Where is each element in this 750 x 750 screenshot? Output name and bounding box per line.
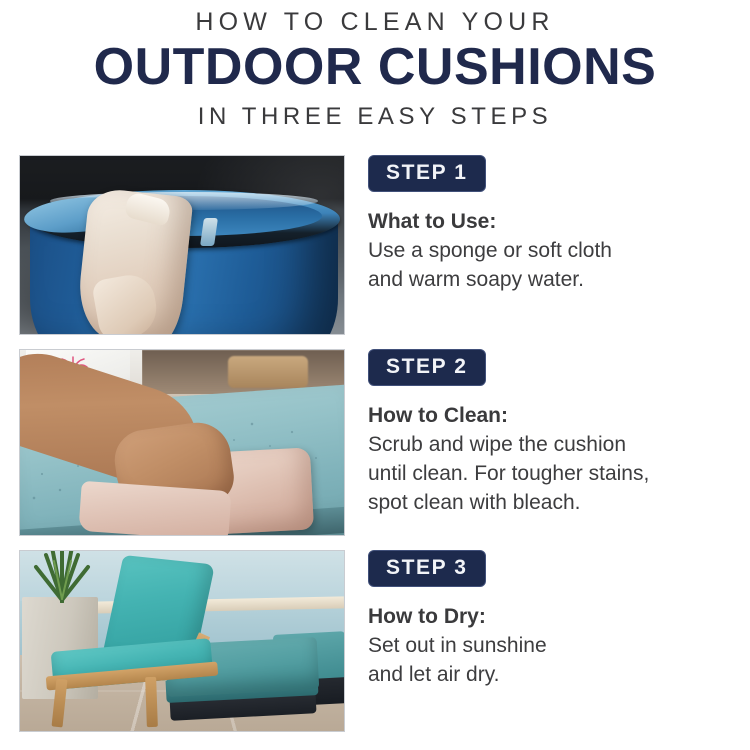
- step-3-badge: STEP 3: [368, 550, 486, 587]
- header-kicker: HOW TO CLEAN YOUR: [0, 7, 750, 37]
- step-2-body-line-2: until clean. For tougher stains,: [368, 460, 740, 488]
- step-1-body-line-1: Use a sponge or soft cloth: [368, 237, 740, 265]
- step-2-badge: STEP 2: [368, 349, 486, 386]
- bucket-scene: [20, 156, 344, 334]
- step-1-photo: [19, 155, 345, 335]
- step-3-photo: [19, 550, 345, 732]
- step-1-text: STEP 1 What to Use: Use a sponge or soft…: [368, 155, 740, 294]
- background-basket: [228, 356, 308, 388]
- pink-cleaning-cloth-fold: [78, 481, 231, 535]
- step-2-body-line-1: Scrub and wipe the cushion: [368, 431, 740, 459]
- poolside-scene: [20, 551, 344, 731]
- scrubbing-scene: [20, 350, 344, 535]
- step-2-photo: [19, 349, 345, 536]
- step-2-text: STEP 2 How to Clean: Scrub and wipe the …: [368, 349, 740, 517]
- step-1-badge: STEP 1: [368, 155, 486, 192]
- lounge-leg-rear: [145, 677, 158, 727]
- infographic-page: HOW TO CLEAN YOUR OUTDOOR CUSHIONS IN TH…: [0, 0, 750, 750]
- step-1-body-line-2: and warm soapy water.: [368, 266, 740, 294]
- page-title: OUTDOOR CUSHIONS: [0, 38, 750, 96]
- step-3-text: STEP 3 How to Dry: Set out in sunshine a…: [368, 550, 740, 689]
- step-3-body-line-1: Set out in sunshine: [368, 632, 740, 660]
- step-1-heading: What to Use:: [368, 208, 740, 236]
- header-subtitle: IN THREE EASY STEPS: [0, 103, 750, 131]
- step-3-heading: How to Dry:: [368, 603, 740, 631]
- step-row-1: STEP 1 What to Use: Use a sponge or soft…: [0, 155, 750, 335]
- step-2-body-line-3: spot clean with bleach.: [368, 489, 740, 517]
- agave-plant-icon: [26, 551, 98, 603]
- step-row-3: STEP 3 How to Dry: Set out in sunshine a…: [0, 550, 750, 732]
- step-2-heading: How to Clean:: [368, 402, 740, 430]
- step-row-2: STEP 2 How to Clean: Scrub and wipe the …: [0, 349, 750, 536]
- header: HOW TO CLEAN YOUR OUTDOOR CUSHIONS IN TH…: [0, 0, 750, 148]
- step-3-body-line-2: and let air dry.: [368, 661, 740, 689]
